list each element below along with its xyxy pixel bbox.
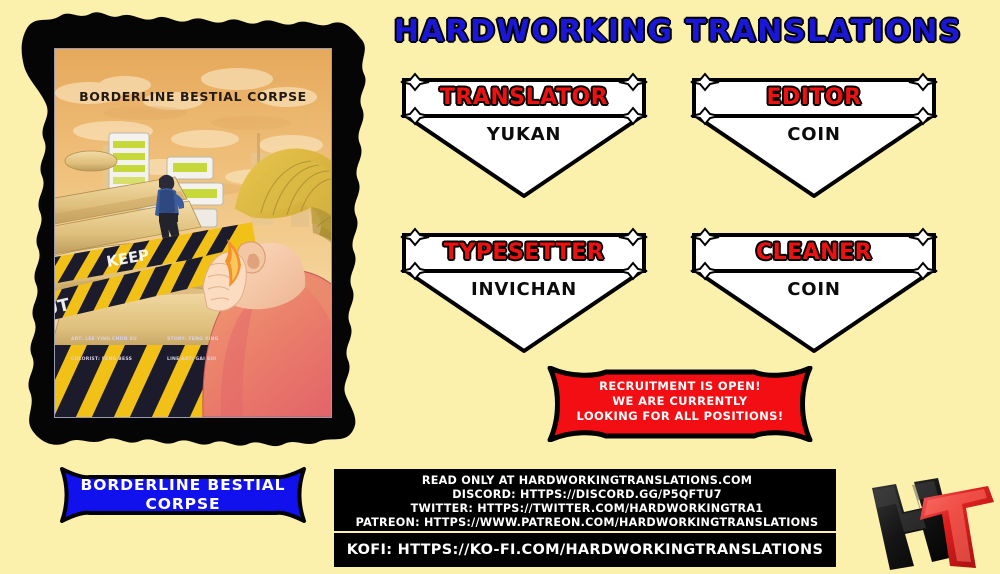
credit-pennant-translator: TRANSLATOR YUKAN bbox=[396, 72, 652, 200]
credits-page: KEEP bbox=[0, 0, 1000, 574]
credit-pennant-typesetter: TYPESETTER INVICHAN bbox=[396, 227, 652, 355]
pennant-person-name: COIN bbox=[686, 124, 942, 145]
recruitment-message: RECRUITMENT IS OPEN! WE ARE CURRENTLY LO… bbox=[546, 379, 814, 424]
cover-credit-lineart: LINE ART: GAI SUI bbox=[167, 357, 216, 362]
pennant-person-name: INVICHAN bbox=[396, 279, 652, 300]
kofi-info-box: KOFI: HTTPS://KO-FI.COM/HARDWORKINGTRANS… bbox=[334, 533, 836, 567]
links-text-block[interactable]: READ ONLY AT HARDWORKINGTRANSLATIONS.COM… bbox=[336, 474, 838, 530]
cover-credit-story: STORY: FENG XING bbox=[167, 337, 219, 342]
pennant-role-label: TYPESETTER bbox=[396, 240, 652, 265]
cover-panel: KEEP bbox=[8, 0, 380, 462]
ht-logo bbox=[862, 472, 994, 570]
pennant-person-name: YUKAN bbox=[396, 124, 652, 145]
pennant-role-label: TRANSLATOR bbox=[396, 85, 652, 110]
kofi-link-text[interactable]: KOFI: HTTPS://KO-FI.COM/HARDWORKINGTRANS… bbox=[347, 542, 823, 558]
page-title: HARDWORKING TRANSLATIONS bbox=[393, 14, 963, 49]
cover-credit-colorist: COLORIST: FENG BESS bbox=[71, 357, 132, 362]
cover-series-title: BORDERLINE BESTIAL CORPSE bbox=[55, 89, 331, 104]
series-title-plaque: BORDERLINE BESTIAL CORPSE bbox=[56, 466, 310, 524]
recruitment-banner: RECRUITMENT IS OPEN! WE ARE CURRENTLY LO… bbox=[546, 366, 814, 442]
credit-pennant-editor: EDITOR COIN bbox=[686, 72, 942, 200]
pennant-role-label: EDITOR bbox=[686, 85, 942, 110]
series-plaque-label: BORDERLINE BESTIAL CORPSE bbox=[56, 476, 310, 514]
cover-artwork: KEEP bbox=[54, 48, 332, 418]
links-info-box: READ ONLY AT HARDWORKINGTRANSLATIONS.COM… bbox=[334, 469, 836, 531]
cover-credit-art: ART: LEE YING CHUN SU bbox=[71, 337, 137, 342]
pennant-role-label: CLEANER bbox=[686, 240, 942, 265]
pennant-person-name: COIN bbox=[686, 279, 942, 300]
credit-pennant-cleaner: CLEANER COIN bbox=[686, 227, 942, 355]
